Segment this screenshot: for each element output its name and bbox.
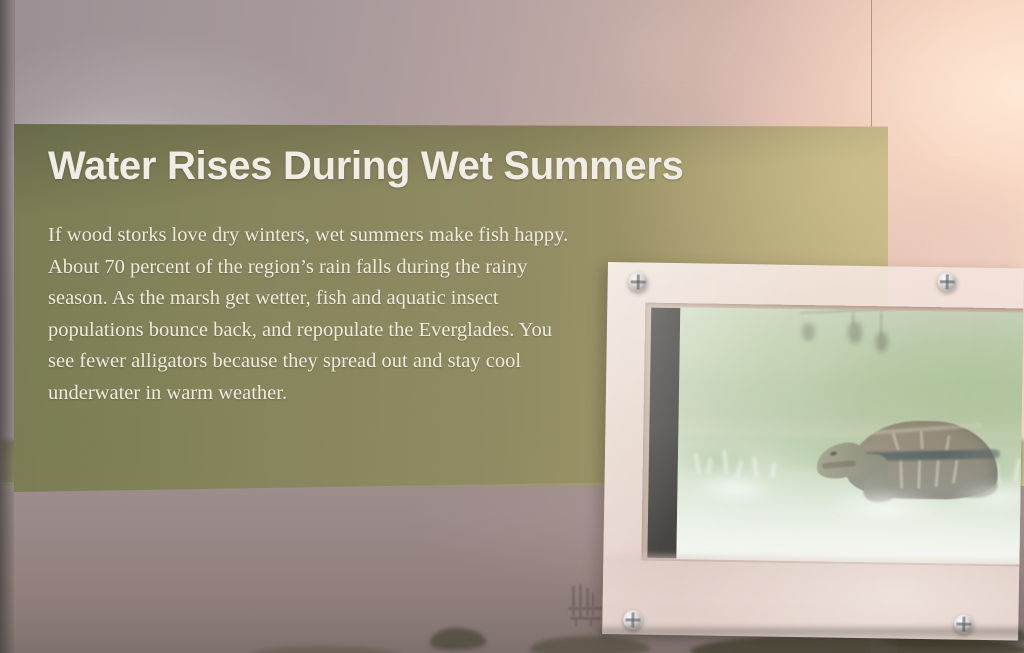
standoff-screw-top-left [629, 272, 648, 291]
photo-foreground-grass [676, 457, 1024, 565]
distant-tower-silhouette [568, 584, 602, 628]
wall-edge-shadow-left [0, 0, 14, 653]
standoff-screw-top-right [938, 272, 957, 291]
standoff-screw-bottom-left [623, 610, 642, 629]
acrylic-photo-panel [602, 262, 1024, 640]
page-title: Water Rises During Wet Summers [48, 144, 848, 188]
exhibit-photograph: Water Rises During Wet Summers If wood s… [0, 0, 1024, 653]
panel-body-text: If wood storks love dry winters, wet sum… [48, 220, 578, 410]
cloud-blotch [620, 10, 800, 100]
turtle-photograph [676, 307, 1024, 565]
acrylic-reflection-band [603, 554, 1020, 607]
panel-drop-shadow [600, 628, 1024, 642]
